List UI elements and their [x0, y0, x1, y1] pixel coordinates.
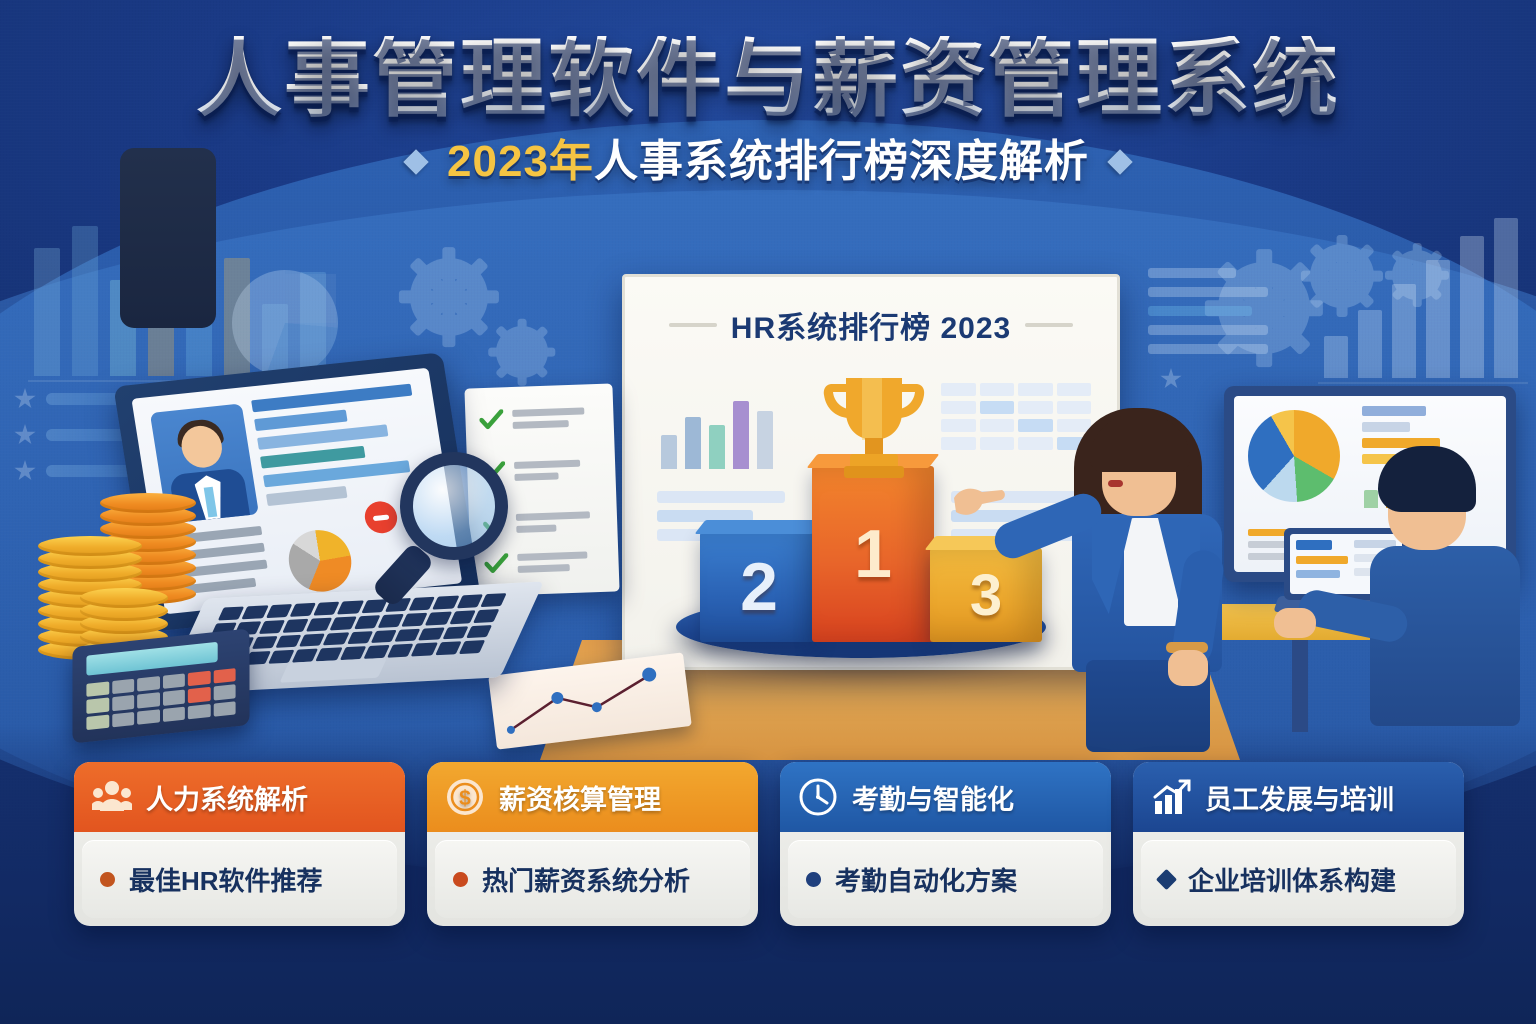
subtitle-rest: 人事系统排行榜深度解析	[594, 137, 1089, 186]
dot-bullet-icon	[806, 872, 821, 887]
star-icon	[14, 388, 36, 410]
star-icon	[1160, 368, 1182, 390]
star-icon	[14, 424, 36, 446]
card-body-text: 热门薪资系统分析	[482, 861, 690, 898]
title-block: 人事管理软件与薪资管理系统 2023年人事系统排行榜深度解析	[0, 36, 1536, 184]
card-body-text: 企业培训体系构建	[1188, 861, 1396, 898]
card-body: 考勤自动化方案	[788, 840, 1103, 918]
calculator-display	[86, 642, 217, 676]
gear-icon	[410, 258, 488, 336]
dot-bullet-icon	[453, 872, 468, 887]
card-header: 员工发展与培训	[1133, 762, 1464, 832]
card-body: 最佳HR软件推荐	[82, 840, 397, 918]
subtitle-row: 2023年人事系统排行榜深度解析	[0, 140, 1536, 184]
podium-block-second: 2	[700, 532, 818, 642]
pointing-hand-icon	[952, 484, 1006, 524]
card-body: 热门薪资系统分析	[435, 840, 750, 918]
card-body-text: 考勤自动化方案	[835, 861, 1017, 898]
diamond-bullet-icon	[1156, 868, 1177, 889]
pie-chart-icon	[1248, 410, 1340, 502]
feature-card-training[interactable]: 员工发展与培训 企业培训体系构建	[1133, 762, 1464, 926]
card-body-text: 最佳HR软件推荐	[129, 861, 323, 898]
card-title: 员工发展与培训	[1205, 778, 1394, 817]
podium-rank-3: 3	[970, 562, 1002, 629]
card-header: 人力系统解析	[74, 762, 405, 832]
board-title-row: HR系统排行榜 2023	[625, 303, 1117, 347]
card-title: 考勤与智能化	[852, 778, 1014, 817]
card-title: 人力系统解析	[146, 778, 308, 817]
card-header: 考勤与智能化	[780, 762, 1111, 832]
clock-icon	[798, 777, 838, 817]
feature-cards: 人力系统解析 最佳HR软件推荐 $ 薪资核算管理 热门薪资系统分析	[74, 762, 1464, 926]
trophy-icon	[816, 370, 932, 478]
background-pie-chart-left	[232, 270, 338, 376]
divider	[1025, 323, 1073, 327]
man-analyst	[1350, 440, 1536, 740]
background-bar-chart-right	[1318, 218, 1528, 378]
calculator-keys	[86, 668, 235, 730]
people-group-icon	[92, 777, 132, 817]
desk-leg	[1292, 636, 1308, 732]
background-text-lines-right	[1148, 268, 1268, 354]
svg-text:$: $	[459, 787, 471, 810]
card-header: $ 薪资核算管理	[427, 762, 758, 832]
diamond-icon	[403, 149, 428, 174]
laptop-trackpad	[279, 658, 387, 683]
podium-rank-1: 1	[854, 515, 892, 593]
background-star-list-left	[14, 460, 142, 482]
diamond-icon	[1107, 149, 1132, 174]
growth-chart-icon	[1151, 777, 1191, 817]
magnifier-icon	[378, 452, 518, 602]
feature-card-hr-systems[interactable]: 人力系统解析 最佳HR软件推荐	[74, 762, 405, 926]
board-mini-bar-chart	[659, 387, 785, 469]
podium-block-third: 3	[930, 548, 1042, 642]
podium-block-first: 1	[812, 466, 934, 642]
woman-presenter	[1046, 402, 1256, 750]
page-title: 人事管理软件与薪资管理系统	[0, 36, 1536, 122]
podium-rank-2: 2	[740, 548, 778, 626]
poster-canvas: 人事管理软件与薪资管理系统 2023年人事系统排行榜深度解析 HR系统排行榜 2…	[0, 0, 1536, 1024]
card-body: 企业培训体系构建	[1141, 840, 1456, 918]
feature-card-payroll[interactable]: $ 薪资核算管理 热门薪资系统分析	[427, 762, 758, 926]
dollar-coin-icon: $	[445, 777, 485, 817]
card-title: 薪资核算管理	[499, 778, 661, 817]
background-star-right	[1160, 368, 1182, 390]
divider	[669, 323, 717, 327]
board-title: HR系统排行榜 2023	[731, 303, 1011, 347]
subtitle-year: 2023年	[447, 137, 594, 186]
pie-chart-icon	[284, 527, 355, 595]
feature-card-attendance[interactable]: 考勤与智能化 考勤自动化方案	[780, 762, 1111, 926]
calculator-icon	[72, 628, 249, 743]
dot-bullet-icon	[100, 872, 115, 887]
star-icon	[14, 460, 36, 482]
